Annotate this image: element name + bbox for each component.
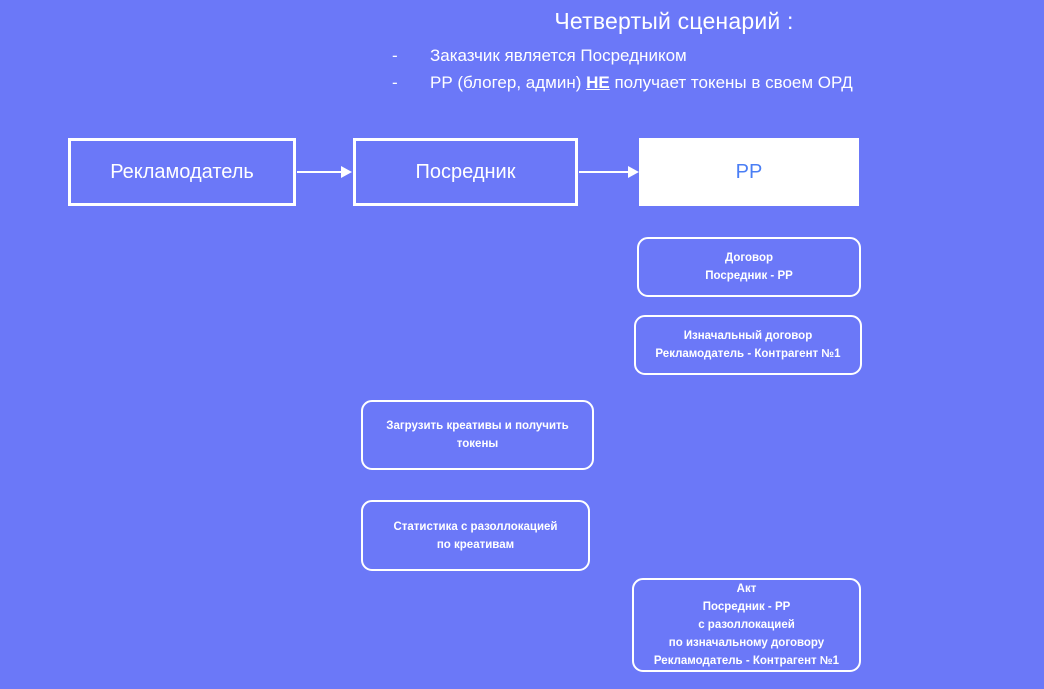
bullet-list: - Заказчик является Посредником - РР (бл…	[392, 42, 1032, 96]
note-line: Акт	[640, 580, 853, 598]
slide-title: Четвертый сценарий :	[0, 6, 1044, 36]
flow-arrow-advertiser-to-intermediary	[297, 166, 352, 178]
note-lines: Акт Посредник - РР с разоллокацией по из…	[640, 580, 853, 670]
flow-node-label: Посредник	[416, 159, 516, 185]
note-line: Посредник - РР	[645, 267, 853, 285]
bullet-item: - Заказчик является Посредником	[392, 42, 1032, 69]
bullet-item: - РР (блогер, админ) НЕ получает токены …	[392, 69, 1032, 96]
bullet-dash-icon: -	[392, 69, 430, 96]
note-upload-creatives[interactable]: Загрузить креативы и получить токены	[361, 400, 594, 470]
flow-node-intermediary[interactable]: Посредник	[353, 138, 578, 206]
note-line: Посредник - РР	[640, 598, 853, 616]
arrow-head-icon	[628, 166, 639, 178]
note-line: токены	[369, 435, 586, 453]
note-line: Изначальный договор	[642, 327, 854, 345]
note-lines: Статистика с разоллокацией по креативам	[369, 518, 582, 554]
note-line: по креативам	[369, 536, 582, 554]
note-line: Статистика с разоллокацией	[369, 518, 582, 536]
bullet-emphasis: НЕ	[586, 73, 610, 92]
flow-arrow-intermediary-to-rr	[579, 166, 639, 178]
bullet-item-label: Заказчик является Посредником	[430, 42, 687, 69]
slide-title-text: Четвертый сценарий :	[554, 6, 793, 36]
note-statistics-deallocation[interactable]: Статистика с разоллокацией по креативам	[361, 500, 590, 571]
note-line: Рекламодатель - Контрагент №1	[640, 652, 853, 670]
note-lines: Загрузить креативы и получить токены	[369, 417, 586, 453]
slide-canvas: Четвертый сценарий : - Заказчик является…	[0, 0, 1044, 689]
bullet-text-segment: РР (блогер, админ)	[430, 73, 586, 92]
note-line: Договор	[645, 249, 853, 267]
note-act-intermediary-rr[interactable]: Акт Посредник - РР с разоллокацией по из…	[632, 578, 861, 672]
bullet-dash-icon: -	[392, 42, 430, 69]
bullet-text-segment: Заказчик является Посредником	[430, 46, 687, 65]
note-lines: Изначальный договор Рекламодатель - Конт…	[642, 327, 854, 363]
arrow-shaft	[297, 171, 341, 173]
note-lines: Договор Посредник - РР	[645, 249, 853, 285]
bullet-item-label: РР (блогер, админ) НЕ получает токены в …	[430, 69, 853, 96]
flow-node-label: Рекламодатель	[110, 159, 254, 185]
note-line: по изначальному договору	[640, 634, 853, 652]
note-line: Загрузить креативы и получить	[369, 417, 586, 435]
flow-node-label: РР	[736, 159, 763, 185]
note-line: Рекламодатель - Контрагент №1	[642, 345, 854, 363]
arrow-head-icon	[341, 166, 352, 178]
note-original-contract[interactable]: Изначальный договор Рекламодатель - Конт…	[634, 315, 862, 375]
bullet-text-segment: получает токены в своем ОРД	[610, 73, 853, 92]
arrow-shaft	[579, 171, 628, 173]
note-contract-intermediary-rr[interactable]: Договор Посредник - РР	[637, 237, 861, 297]
flow-node-rr[interactable]: РР	[639, 138, 859, 206]
note-line: с разоллокацией	[640, 616, 853, 634]
flow-node-advertiser[interactable]: Рекламодатель	[68, 138, 296, 206]
